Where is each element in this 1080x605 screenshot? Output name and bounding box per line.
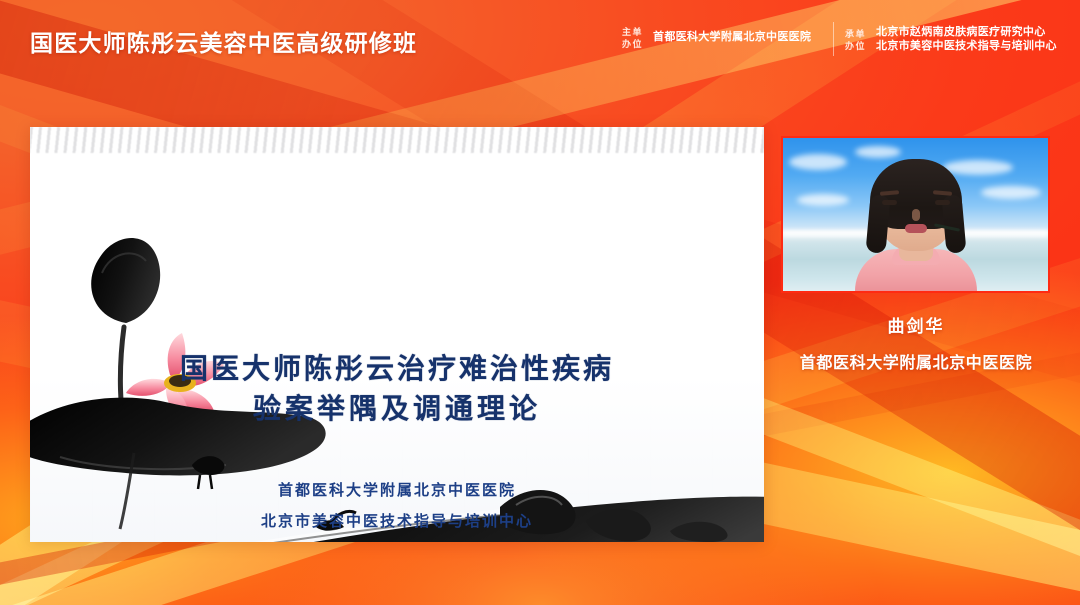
broadcast-stage: 国医大师陈彤云美容中医高级研修班 主单 办位 首都医科大学附属北京中医医院 承单…	[0, 0, 1080, 605]
speaker-mouth	[905, 224, 927, 233]
slide-top-smudge	[30, 127, 764, 153]
host-organizer-name: 首都医科大学附属北京中医医院	[653, 31, 811, 45]
slide-title-line1: 国医大师陈彤云治疗难治性疾病	[180, 352, 614, 385]
cohost-organizer-block: 承单 办位 北京市赵炳南皮肤病医疗研究中心 北京市美容中医技术指导与培训中心	[845, 26, 1057, 53]
cohost-organizer-name-line1: 北京市赵炳南皮肤病医疗研究中心	[876, 26, 1057, 40]
host-organizer-label-line1: 主单	[622, 26, 643, 38]
speaker-eye-left	[882, 200, 897, 205]
header-divider	[833, 22, 834, 56]
speaker-name: 曲剑华	[770, 312, 1062, 337]
cohost-organizer-label: 承单 办位	[845, 28, 866, 52]
event-header: 国医大师陈彤云美容中医高级研修班 主单 办位 首都医科大学附属北京中医医院 承单…	[0, 0, 1080, 76]
webcam-video[interactable]	[783, 138, 1048, 291]
cloud-shape	[981, 186, 1041, 199]
speaker-figure	[850, 163, 982, 291]
host-organizer-label: 主单 办位	[622, 26, 643, 50]
slide-title-line2: 验案举隅及调通理论	[30, 389, 764, 429]
slide-subtitle-line1: 首都医科大学附属北京中医医院	[30, 475, 764, 506]
cloud-shape	[797, 194, 849, 206]
host-organizer-block: 主单 办位 首都医科大学附属北京中医医院	[622, 26, 811, 50]
cloud-shape	[789, 154, 847, 170]
speaker-eye-right	[935, 200, 950, 205]
cohost-organizer-label-line2: 办位	[845, 40, 866, 52]
slide-subtitle: 首都医科大学附属北京中医医院 北京市美容中医技术指导与培训中心 曲剑华	[30, 475, 764, 542]
cohost-organizer-label-line1: 承单	[845, 28, 866, 40]
speaker-caption: 曲剑华 首都医科大学附属北京中医医院	[770, 312, 1062, 373]
cohost-organizer-name-line2: 北京市美容中医技术指导与培训中心	[876, 40, 1057, 54]
cloud-shape	[855, 146, 901, 158]
cohost-organizer-names: 北京市赵炳南皮肤病医疗研究中心 北京市美容中医技术指导与培训中心	[876, 26, 1057, 53]
speaker-nose	[912, 209, 920, 221]
webcam-frame[interactable]	[781, 136, 1050, 293]
host-organizer-label-line2: 办位	[622, 38, 643, 50]
slide-title: 国医大师陈彤云治疗难治性疾病 验案举隅及调通理论	[30, 349, 764, 429]
presentation-slide[interactable]: 国医大师陈彤云治疗难治性疾病 验案举隅及调通理论 首都医科大学附属北京中医医院 …	[30, 127, 764, 542]
event-title: 国医大师陈彤云美容中医高级研修班	[30, 24, 417, 58]
slide-subtitle-line2: 北京市美容中医技术指导与培训中心	[30, 506, 764, 537]
speaker-affiliation: 首都医科大学附属北京中医医院	[770, 349, 1062, 373]
